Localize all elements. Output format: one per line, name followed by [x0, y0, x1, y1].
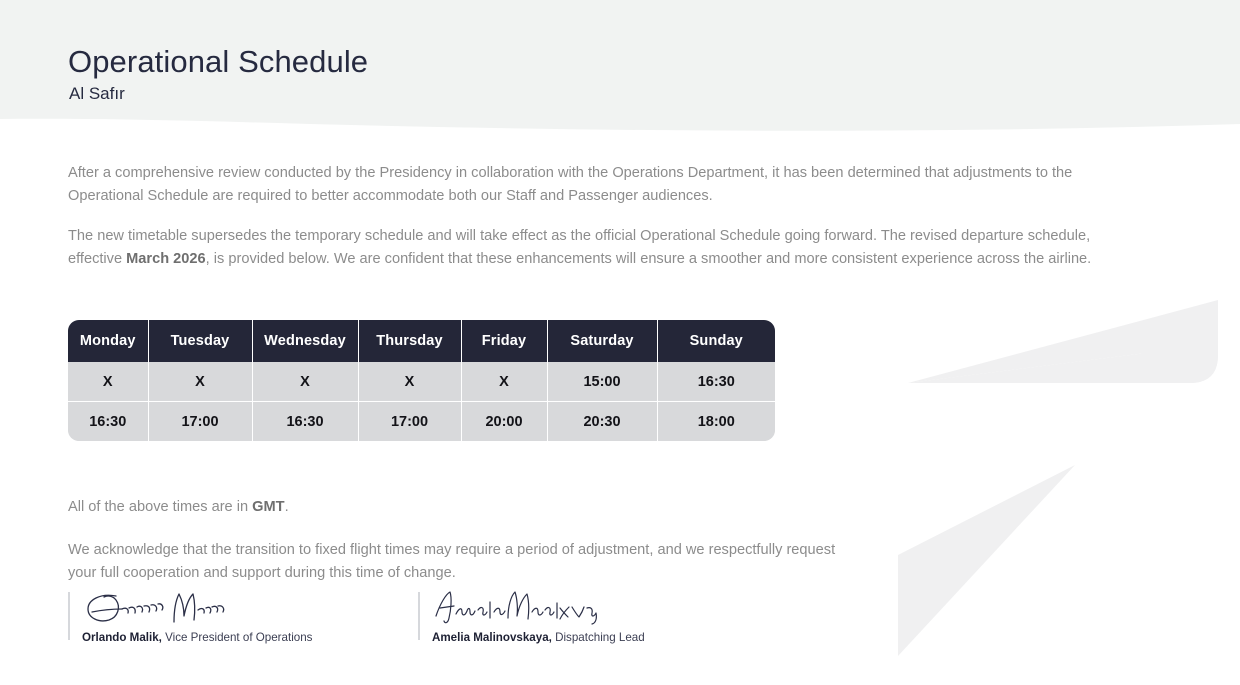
column-header-sunday: Sunday	[657, 320, 775, 362]
signer-name: Amelia Malinovskaya,	[432, 631, 552, 644]
cell-row1-saturday: 20:30	[547, 402, 657, 442]
cell-row1-wednesday: 16:30	[252, 402, 358, 442]
column-header-thursday: Thursday	[358, 320, 461, 362]
cell-row0-friday: X	[461, 362, 547, 402]
cell-row0-saturday: 15:00	[547, 362, 657, 402]
column-header-friday: Friday	[461, 320, 547, 362]
table-row: 16:30 17:00 16:30 17:00 20:00 20:30 18:0…	[68, 402, 775, 442]
table-row: X X X X X 15:00 16:30	[68, 362, 775, 402]
signature-block-amelia-malinovskaya: Amelia Malinovskaya, Dispatching Lead	[418, 588, 768, 645]
signature-mark-icon	[432, 588, 612, 626]
timezone-note-part1: All of the above times are in	[68, 499, 252, 515]
column-header-tuesday: Tuesday	[148, 320, 252, 362]
cell-row0-wednesday: X	[252, 362, 358, 402]
signature-divider-bar	[418, 592, 420, 640]
signature-mark-icon	[82, 588, 252, 626]
intro-paragraph: After a comprehensive review conducted b…	[68, 162, 1123, 208]
column-header-monday: Monday	[68, 320, 148, 362]
timetable-paragraph-part2: , is provided below. We are confident th…	[206, 251, 1092, 267]
document-content: After a comprehensive review conducted b…	[0, 0, 1240, 680]
cell-row1-thursday: 17:00	[358, 402, 461, 442]
effective-date: March 2026	[126, 251, 206, 267]
signer-role: Dispatching Lead	[552, 631, 645, 644]
column-header-saturday: Saturday	[547, 320, 657, 362]
schedule-table-container: Monday Tuesday Wednesday Thursday Friday…	[68, 320, 775, 441]
cell-row0-tuesday: X	[148, 362, 252, 402]
cell-row0-thursday: X	[358, 362, 461, 402]
timezone-note: All of the above times are in GMT.	[68, 496, 888, 519]
signer-role: Vice President of Operations	[162, 631, 313, 644]
cell-row1-monday: 16:30	[68, 402, 148, 442]
column-header-wednesday: Wednesday	[252, 320, 358, 362]
table-header-row: Monday Tuesday Wednesday Thursday Friday…	[68, 320, 775, 362]
cell-row0-sunday: 16:30	[657, 362, 775, 402]
timezone-note-part2: .	[285, 499, 289, 515]
signer-name: Orlando Malik,	[82, 631, 162, 644]
timetable-paragraph: The new timetable supersedes the tempora…	[68, 225, 1123, 271]
cell-row0-monday: X	[68, 362, 148, 402]
cell-row1-tuesday: 17:00	[148, 402, 252, 442]
cell-row1-sunday: 18:00	[657, 402, 775, 442]
closing-paragraph: We acknowledge that the transition to fi…	[68, 539, 858, 585]
signature-row: Orlando Malik, Vice President of Operati…	[68, 588, 828, 645]
schedule-table: Monday Tuesday Wednesday Thursday Friday…	[68, 320, 775, 441]
cell-row1-friday: 20:00	[461, 402, 547, 442]
timezone-value: GMT	[252, 499, 284, 515]
signature-name-line: Orlando Malik, Vice President of Operati…	[82, 630, 418, 645]
signature-divider-bar	[68, 592, 70, 640]
signature-name-line: Amelia Malinovskaya, Dispatching Lead	[432, 630, 768, 645]
signature-block-orlando-malik: Orlando Malik, Vice President of Operati…	[68, 588, 418, 645]
